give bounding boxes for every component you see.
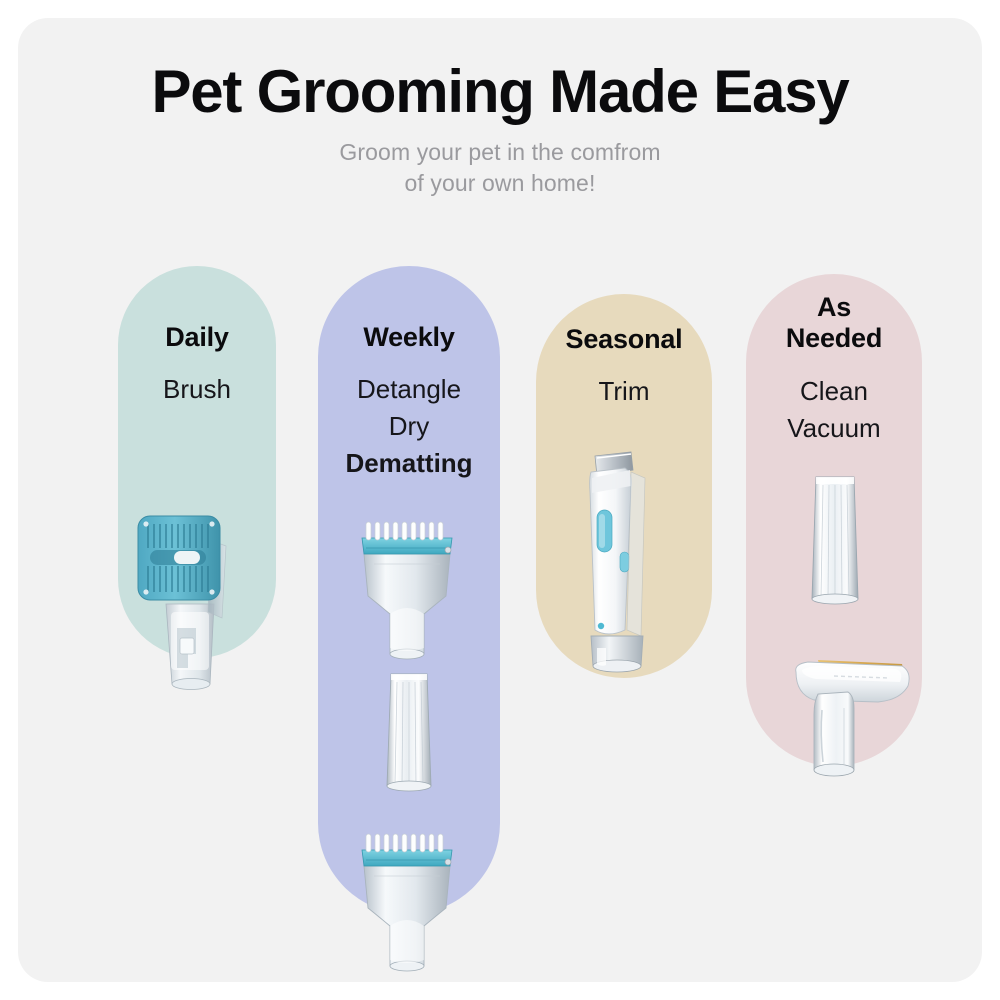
product-image-layer	[18, 18, 982, 982]
dematting-comb-attachment-icon[interactable]	[348, 830, 466, 978]
dryer-nozzle-attachment-icon[interactable]	[373, 668, 445, 800]
detangle-comb-attachment-icon[interactable]	[348, 518, 466, 666]
poster-card: Pet Grooming Made Easy Groom your pet in…	[18, 18, 982, 982]
crevice-cleaning-nozzle-icon[interactable]	[802, 473, 868, 613]
deshedding-brush-vacuum-head-icon[interactable]	[130, 508, 260, 693]
wide-upholstery-vacuum-nozzle-icon[interactable]	[778, 638, 918, 788]
electric-clipper-trimmer-icon[interactable]	[573, 448, 669, 683]
